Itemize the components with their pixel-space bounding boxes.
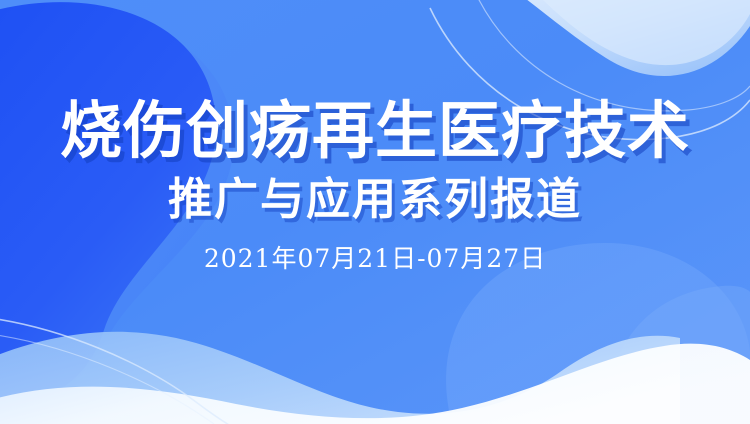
page-title: 烧伤创疡再生医疗技术 [60, 100, 690, 162]
promo-banner: 烧伤创疡再生医疗技术 推广与应用系列报道 2021年07月21日-07月27日 [0, 0, 750, 424]
headline-group: 烧伤创疡再生医疗技术 推广与应用系列报道 2021年07月21日-07月27日 [0, 0, 750, 424]
page-subtitle: 推广与应用系列报道 [168, 178, 582, 222]
date-range-label: 2021年07月21日-07月27日 [204, 246, 546, 271]
